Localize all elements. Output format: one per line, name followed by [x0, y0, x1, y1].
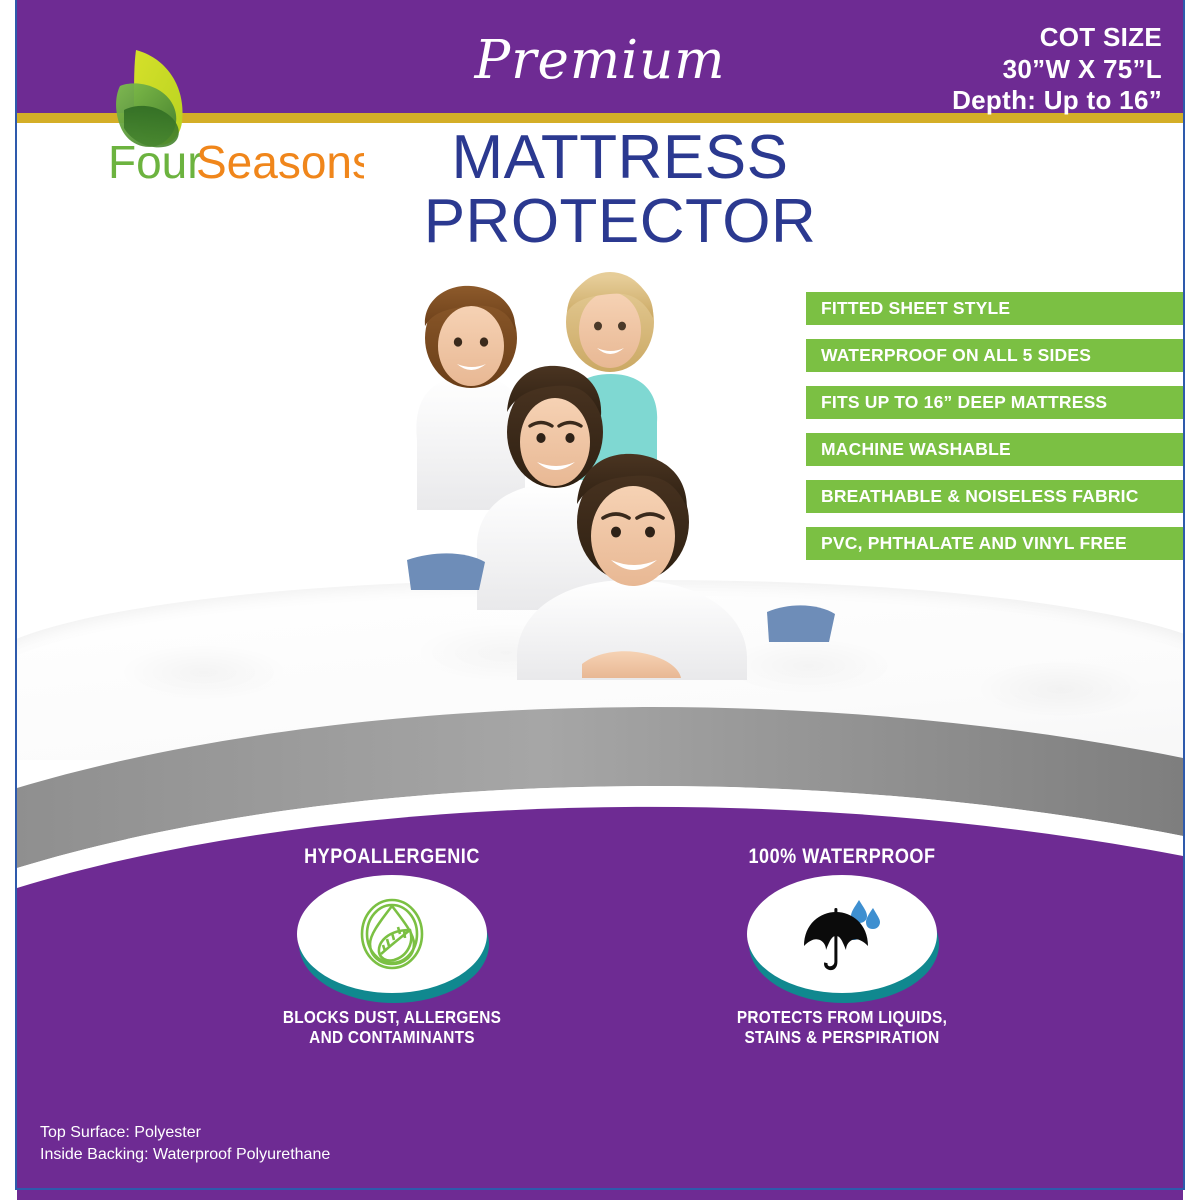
- badge-sub-line-1: BLOCKS DUST, ALLERGENS: [247, 1007, 537, 1027]
- cot-size-line-2: 30”W X 75”L: [952, 54, 1162, 86]
- cot-size-line-1: COT SIZE: [952, 22, 1162, 54]
- feature-bar-2: WATERPROOF ON ALL 5 SIDES: [806, 339, 1183, 372]
- feature-bar-6: PVC, PHTHALATE AND VINYL FREE: [806, 527, 1183, 560]
- badge-title-hypoallergenic: HYPOALLERGENIC: [250, 845, 534, 869]
- feature-list: FITTED SHEET STYLE WATERPROOF ON ALL 5 S…: [806, 292, 1183, 574]
- footer-line-2: Inside Backing: Waterproof Polyurethane: [40, 1144, 330, 1166]
- feature-bar-3: FITS UP TO 16” DEEP MATTRESS: [806, 386, 1183, 419]
- badge-waterproof: 100% WATERPROOF: [677, 845, 1007, 1048]
- jeans-left: [407, 553, 485, 590]
- product-package-label: Premium COT SIZE 30”W X 75”L Depth: Up t…: [0, 0, 1200, 1200]
- droplet-leaf-icon: [348, 890, 436, 978]
- child-boy-figure: [416, 286, 525, 510]
- jeans-right: [767, 605, 835, 642]
- footer-line-1: Top Surface: Polyester: [40, 1122, 330, 1144]
- benefit-badges: HYPOALLERGENIC: [17, 845, 1183, 1105]
- brand-logo: Four Seasons Essentials: [104, 38, 364, 183]
- feature-bar-4: MACHINE WASHABLE: [806, 433, 1183, 466]
- oval-white-face: [747, 875, 937, 993]
- cot-size-line-3: Depth: Up to 16”: [952, 85, 1162, 117]
- svg-text:Seasons: Seasons: [196, 136, 364, 183]
- badge-sub-line-2: AND CONTAMINANTS: [247, 1027, 537, 1047]
- badge-sub-line-1: PROTECTS FROM LIQUIDS,: [697, 1007, 987, 1027]
- page-title: MATTRESS PROTECTOR: [350, 126, 890, 254]
- badge-sub-waterproof: PROTECTS FROM LIQUIDS, STAINS & PERSPIRA…: [697, 1007, 987, 1048]
- material-footer: Top Surface: Polyester Inside Backing: W…: [40, 1122, 330, 1166]
- badge-hypoallergenic: HYPOALLERGENIC: [227, 845, 557, 1048]
- badge-title-waterproof: 100% WATERPROOF: [700, 845, 984, 869]
- title-line-2: PROTECTOR: [350, 190, 890, 254]
- oval-white-face: [297, 875, 487, 993]
- badge-sub-hypoallergenic: BLOCKS DUST, ALLERGENS AND CONTAMINANTS: [247, 1007, 537, 1048]
- leaf-flame-icon: [116, 50, 182, 147]
- badge-sub-line-2: STAINS & PERSPIRATION: [697, 1027, 987, 1047]
- svg-text:Four: Four: [108, 136, 203, 183]
- premium-script-text: Premium: [430, 34, 770, 87]
- feature-bar-5: BREATHABLE & NOISELESS FABRIC: [806, 480, 1183, 513]
- title-line-1: MATTRESS: [452, 123, 789, 192]
- badge-oval-hypoallergenic: [297, 875, 487, 997]
- umbrella-raindrops-icon: [796, 890, 888, 978]
- feature-bar-1: FITTED SHEET STYLE: [806, 292, 1183, 325]
- cot-size-block: COT SIZE 30”W X 75”L Depth: Up to 16”: [952, 22, 1162, 117]
- badge-oval-waterproof: [747, 875, 937, 997]
